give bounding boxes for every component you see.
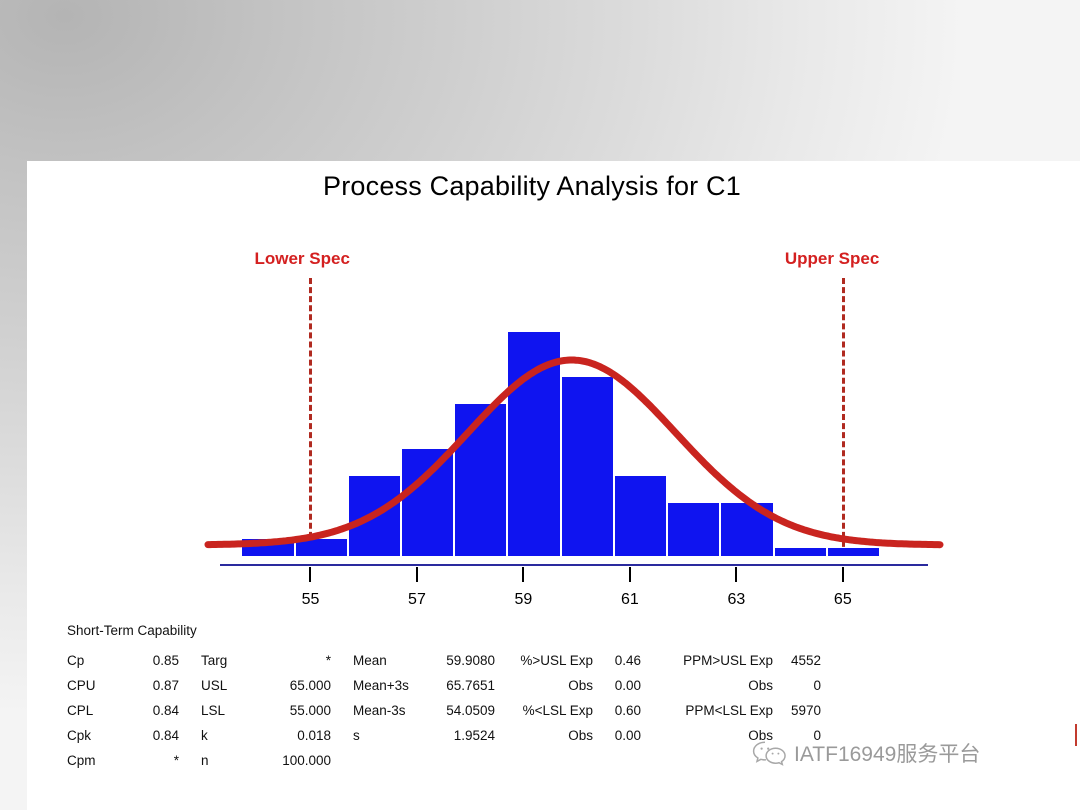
edge-marker xyxy=(1075,724,1077,746)
stats-key: Obs xyxy=(517,728,601,743)
axis-tick-label: 57 xyxy=(408,591,426,609)
stats-key: USL xyxy=(201,678,263,693)
stats-key: CPU xyxy=(67,678,129,693)
stats-key: Cpk xyxy=(67,728,129,743)
stats-value xyxy=(601,753,663,768)
stats-key: Obs xyxy=(517,678,601,693)
axis-tick xyxy=(522,567,524,582)
stats-key xyxy=(663,753,781,768)
axis-tick-label: 59 xyxy=(515,591,533,609)
stats-key: PPM<LSL Exp xyxy=(663,703,781,718)
stats-value: 65.000 xyxy=(263,678,353,693)
stats-value: 1.9524 xyxy=(425,728,517,743)
stats-value: 59.9080 xyxy=(425,653,517,668)
stats-key: Mean-3s xyxy=(353,703,425,718)
stats-key xyxy=(517,753,601,768)
stats-value: 54.0509 xyxy=(425,703,517,718)
axis-tick-label: 61 xyxy=(621,591,639,609)
stats-value: 0.00 xyxy=(601,728,663,743)
axis-tick xyxy=(735,567,737,582)
stats-value: 0.85 xyxy=(129,653,201,668)
stats-key: Cp xyxy=(67,653,129,668)
stats-grid: Cp0.85Targ*Mean59.9080%>USL Exp0.46PPM>U… xyxy=(67,653,1067,768)
stats-key xyxy=(353,753,425,768)
axis-tick-label: 65 xyxy=(834,591,852,609)
stats-value: 100.000 xyxy=(263,753,353,768)
stats-key: Obs xyxy=(663,728,781,743)
stats-value: 0.84 xyxy=(129,703,201,718)
stats-value: 65.7651 xyxy=(425,678,517,693)
stats-key: %>USL Exp xyxy=(517,653,601,668)
stats-value: 0 xyxy=(781,678,843,693)
stats-value xyxy=(425,753,517,768)
axis-tick xyxy=(842,567,844,582)
stats-key: Targ xyxy=(201,653,263,668)
stats-value: 4552 xyxy=(781,653,843,668)
stats-value: 0.018 xyxy=(263,728,353,743)
stats-value: 55.000 xyxy=(263,703,353,718)
stats-key: n xyxy=(201,753,263,768)
stats-key: k xyxy=(201,728,263,743)
histogram-plot: Lower Spec Upper Spec 555759616365 xyxy=(27,161,1080,611)
stats-key: s xyxy=(353,728,425,743)
stats-value: 0 xyxy=(781,728,843,743)
stats-key: Mean+3s xyxy=(353,678,425,693)
stats-value: 0.46 xyxy=(601,653,663,668)
stats-value: * xyxy=(129,753,201,768)
stats-key: %<LSL Exp xyxy=(517,703,601,718)
axis-tick xyxy=(416,567,418,582)
stats-key: PPM>USL Exp xyxy=(663,653,781,668)
statistics-table: Short-Term Capability Cp0.85Targ*Mean59.… xyxy=(67,623,1067,768)
stats-value: 0.87 xyxy=(129,678,201,693)
axis-tick-label: 63 xyxy=(727,591,745,609)
stats-key: Mean xyxy=(353,653,425,668)
stats-key: CPL xyxy=(67,703,129,718)
stats-key: Cpm xyxy=(67,753,129,768)
stats-value: 0.60 xyxy=(601,703,663,718)
chart-panel: Process Capability Analysis for C1 Lower… xyxy=(27,161,1080,810)
stats-value: 0.84 xyxy=(129,728,201,743)
axis-tick-label: 55 xyxy=(302,591,320,609)
x-axis-ticks: 555759616365 xyxy=(27,161,1080,611)
axis-tick xyxy=(309,567,311,582)
stats-key: LSL xyxy=(201,703,263,718)
stats-key: Obs xyxy=(663,678,781,693)
stats-value: 5970 xyxy=(781,703,843,718)
stats-value xyxy=(781,753,843,768)
stats-value: * xyxy=(263,653,353,668)
stats-heading: Short-Term Capability xyxy=(67,623,1067,638)
axis-tick xyxy=(629,567,631,582)
stats-value: 0.00 xyxy=(601,678,663,693)
